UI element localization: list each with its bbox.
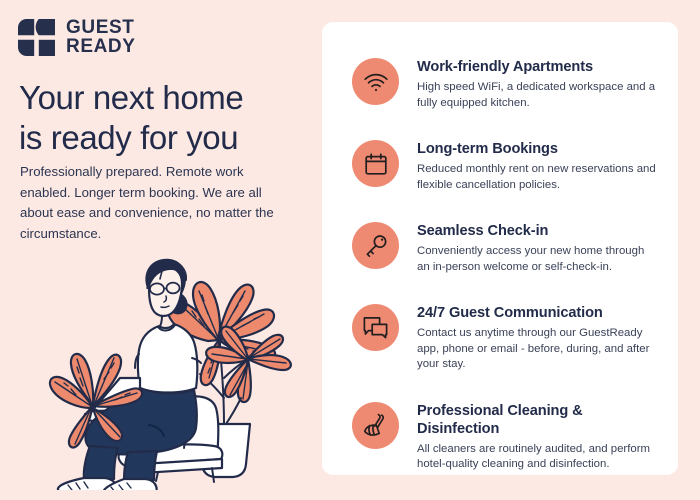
feature-list: Work-friendly Apartments High speed WiFi… <box>322 22 678 475</box>
brand-name-line1: GUEST <box>66 19 136 37</box>
feature-text: Professional Cleaning & Disinfection All… <box>417 400 656 473</box>
broom-icon <box>363 413 388 437</box>
feature-icon-badge <box>352 140 399 187</box>
guestready-grid-logo-icon <box>18 19 55 56</box>
feature-title: Seamless Check-in <box>417 222 656 240</box>
features-card: Work-friendly Apartments High speed WiFi… <box>322 22 678 475</box>
feature-icon-badge <box>352 304 399 351</box>
feature-title: Long-term Bookings <box>417 140 656 158</box>
feature-item-seamless-check-in[interactable]: Seamless Check-in Conveniently access yo… <box>352 220 656 275</box>
feature-title: Work-friendly Apartments <box>417 58 656 76</box>
feature-item-guest-communication[interactable]: 24/7 Guest Communication Contact us anyt… <box>352 302 656 373</box>
feature-description: Conveniently access your new home throug… <box>417 244 656 275</box>
illustration-woman-laptop-armchair-plants <box>36 228 314 490</box>
feature-title: 24/7 Guest Communication <box>417 304 656 322</box>
feature-text: Seamless Check-in Conveniently access yo… <box>417 220 656 275</box>
feature-icon-badge <box>352 58 399 105</box>
left-column: GUEST READY Your next home is ready for … <box>0 0 320 500</box>
chat-bubbles-icon <box>363 316 388 339</box>
brand-wordmark: GUEST READY <box>66 19 136 56</box>
feature-description: Reduced monthly rent on new reservations… <box>417 162 656 193</box>
feature-text: Long-term Bookings Reduced monthly rent … <box>417 138 656 193</box>
feature-text: Work-friendly Apartments High speed WiFi… <box>417 56 656 111</box>
promo-page: GUEST READY Your next home is ready for … <box>0 0 700 500</box>
brand-logo[interactable]: GUEST READY <box>18 19 136 56</box>
page-title: Your next home is ready for you <box>19 78 309 158</box>
feature-description: Contact us anytime through our GuestRead… <box>417 326 656 373</box>
brand-name-line2: READY <box>66 38 136 56</box>
feature-title: Professional Cleaning & Disinfection <box>417 402 656 438</box>
feature-text: 24/7 Guest Communication Contact us anyt… <box>417 302 656 373</box>
feature-icon-badge <box>352 402 399 449</box>
key-icon <box>364 234 388 258</box>
feature-item-long-term-bookings[interactable]: Long-term Bookings Reduced monthly rent … <box>352 138 656 193</box>
wifi-icon <box>363 71 389 93</box>
feature-description: All cleaners are routinely audited, and … <box>417 442 656 473</box>
feature-icon-badge <box>352 222 399 269</box>
feature-item-work-friendly-apartments[interactable]: Work-friendly Apartments High speed WiFi… <box>352 56 656 111</box>
feature-description: High speed WiFi, a dedicated workspace a… <box>417 80 656 111</box>
feature-item-professional-cleaning[interactable]: Professional Cleaning & Disinfection All… <box>352 400 656 473</box>
calendar-icon <box>364 152 388 176</box>
